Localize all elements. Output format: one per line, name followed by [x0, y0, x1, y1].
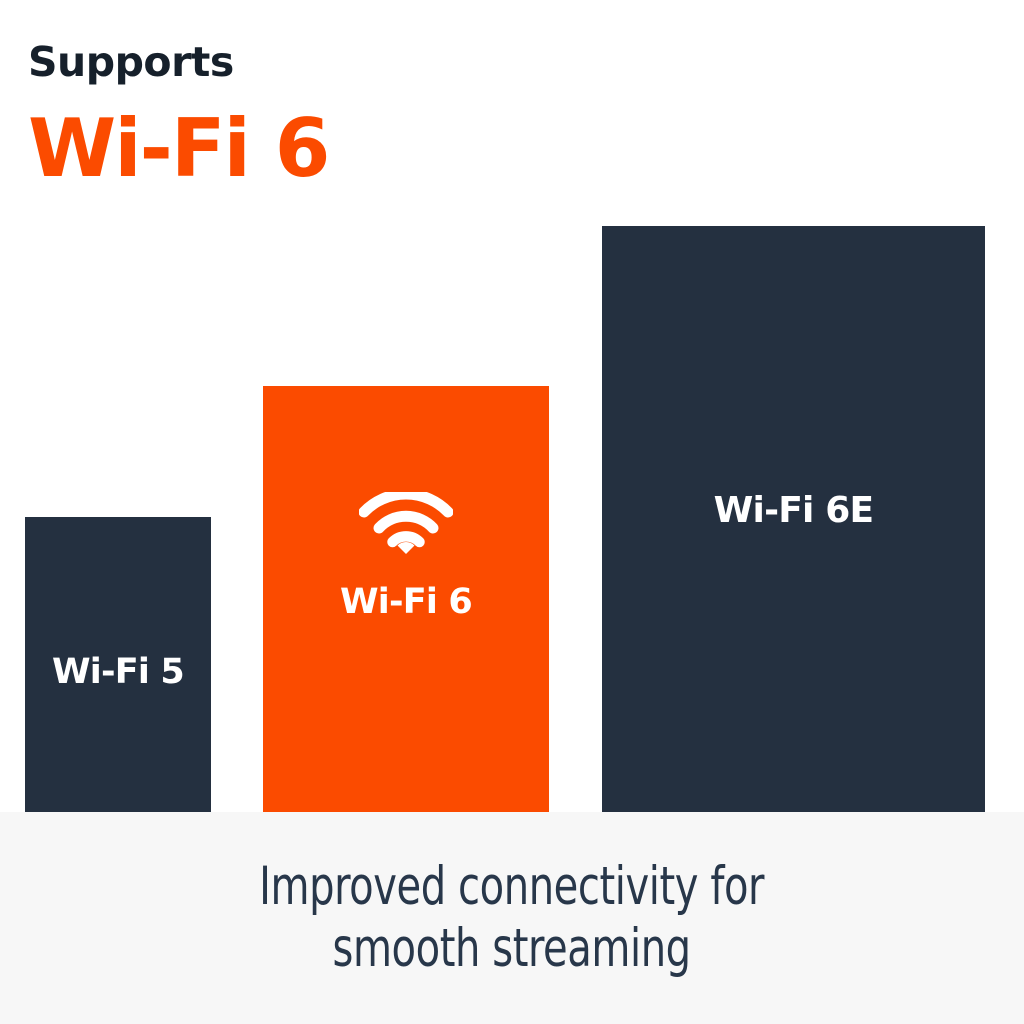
- bar-label-wifi-6: Wi-Fi 6: [263, 585, 549, 620]
- wifi-comparison-bar-chart: Wi-Fi 5 Wi-Fi 6 Wi-Fi 6E: [0, 0, 1024, 812]
- bar-label-wifi-6e: Wi-Fi 6E: [602, 493, 985, 529]
- wifi-icon: [359, 492, 453, 554]
- footer-caption-band: Improved connectivity for smooth streami…: [0, 812, 1024, 1024]
- bar-label-wifi-5: Wi-Fi 5: [25, 655, 211, 690]
- bar-wifi-6: Wi-Fi 6: [263, 386, 549, 812]
- bar-wifi-5: Wi-Fi 5: [25, 517, 211, 812]
- bar-wifi-6e: Wi-Fi 6E: [602, 226, 985, 812]
- footer-caption: Improved connectivity for smooth streami…: [226, 856, 798, 980]
- feature-callout-card: Supports Wi-Fi 6 Wi-Fi 5 Wi-Fi 6: [0, 0, 1024, 1024]
